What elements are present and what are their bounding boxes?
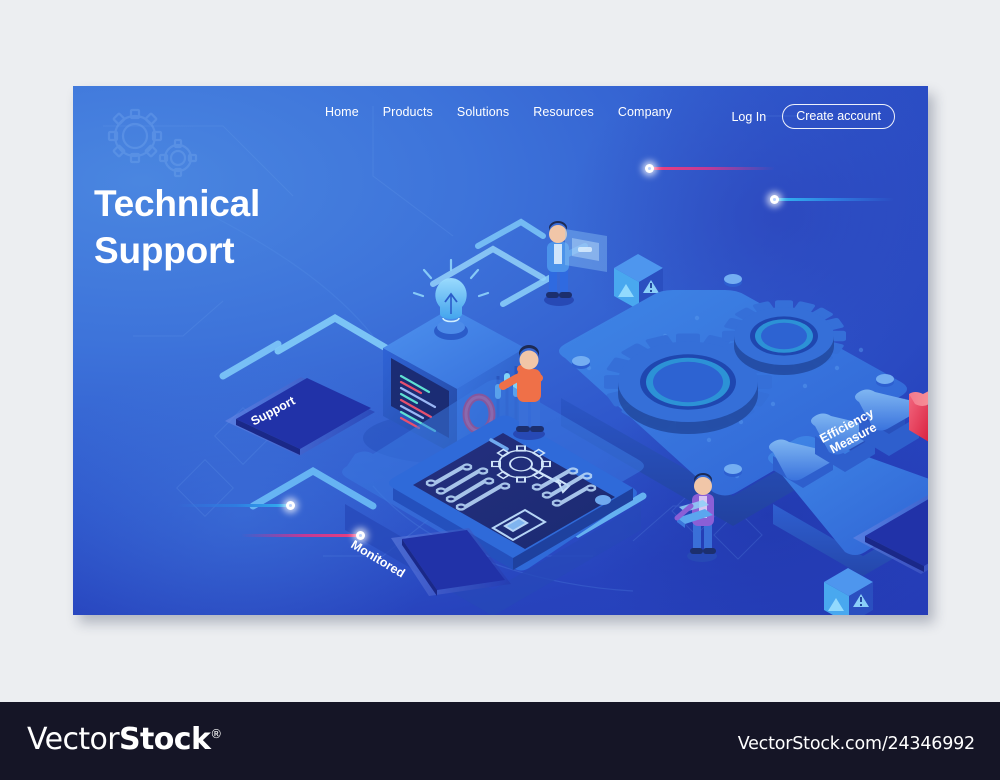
hero-banner: Home Products Solutions Resources Compan… (73, 86, 928, 615)
logo-prefix: Vector (27, 722, 119, 757)
lightbulb-icon (414, 260, 488, 322)
glow-dot-3 (286, 501, 295, 510)
warning-cube-bottom[interactable] (824, 568, 873, 615)
isometric-illustration (73, 86, 928, 615)
vectorstock-url: VectorStock.com/24346992 (738, 734, 975, 754)
vectorstock-logo: VectorStock® (27, 722, 222, 757)
glow-dot-2 (770, 195, 779, 204)
screenshot-root: Home Products Solutions Resources Compan… (0, 0, 1000, 780)
logo-suffix: Stock (119, 722, 210, 757)
person-blue-suit (544, 221, 607, 306)
glow-dot-1 (645, 164, 654, 173)
registered-mark-icon: ® (210, 727, 221, 741)
bar-block-red-highlight (909, 310, 928, 442)
